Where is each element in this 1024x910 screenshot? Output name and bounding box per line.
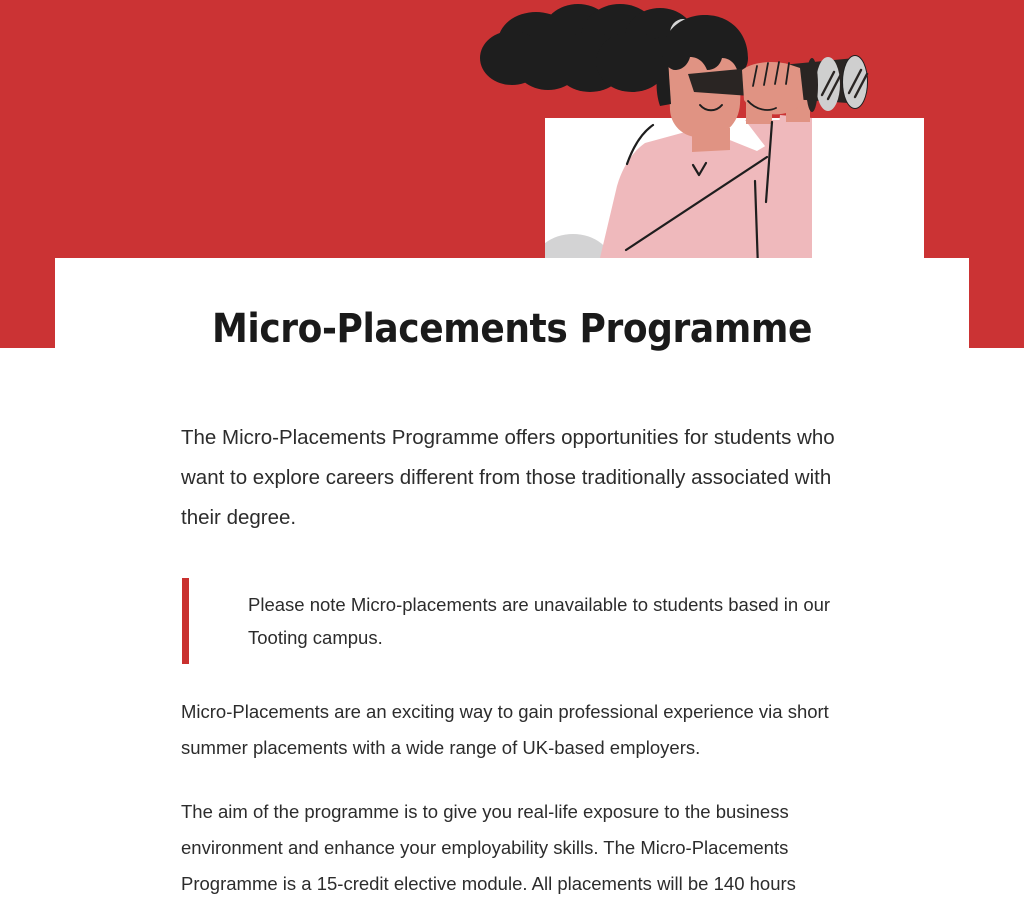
note-text: Please note Micro-placements are unavail… bbox=[248, 588, 841, 654]
article-body: The Micro-Placements Programme offers op… bbox=[181, 418, 841, 910]
content-card: Micro-Placements Programme bbox=[55, 258, 969, 352]
lead-paragraph: The Micro-Placements Programme offers op… bbox=[181, 418, 841, 538]
page-title: Micro-Placements Programme bbox=[55, 258, 969, 352]
hand-icon bbox=[742, 62, 804, 114]
note-callout: Please note Micro-placements are unavail… bbox=[182, 578, 841, 664]
page-root: Micro-Placements Programme The Micro-Pla… bbox=[0, 0, 1024, 910]
paragraph-2: The aim of the programme is to give you … bbox=[181, 794, 841, 910]
paragraph-1: Micro-Placements are an exciting way to … bbox=[181, 694, 841, 766]
